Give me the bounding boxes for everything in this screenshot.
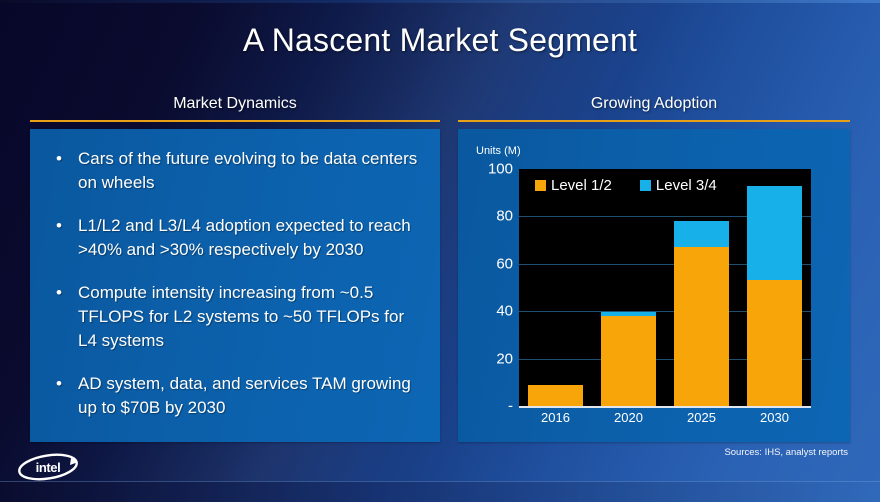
bullet-item: •AD system, data, and services TAM growi…: [44, 372, 426, 420]
bottom-band: [0, 481, 880, 502]
bullet-item: •Compute intensity increasing from ~0.5 …: [44, 281, 426, 353]
x-axis-tick-label: 2030: [760, 410, 789, 425]
chart-bar-segment: [601, 316, 655, 406]
chart-bar-segment: [601, 312, 655, 316]
bullet-item: •L1/L2 and L3/L4 adoption expected to re…: [44, 214, 426, 262]
section-header-market-dynamics: Market Dynamics: [30, 95, 440, 113]
chart-bar: [528, 385, 582, 406]
chart-plot-area: Level 1/2Level 3/4: [519, 169, 811, 406]
x-axis-tick-label: 2016: [541, 410, 570, 425]
page-title: A Nascent Market Segment: [0, 22, 880, 59]
legend-label: Level 3/4: [656, 177, 717, 194]
chart-bar-segment: [528, 385, 582, 406]
chart-legend: Level 1/2Level 3/4: [535, 177, 717, 194]
section-header-growing-adoption: Growing Adoption: [458, 95, 850, 113]
slide-canvas: A Nascent Market Segment Market Dynamics…: [0, 0, 880, 502]
y-axis-tick-label: 20: [462, 350, 513, 367]
chart-bar-segment: [747, 186, 801, 281]
bullet-item: •Cars of the future evolving to be data …: [44, 147, 426, 195]
bullet-text: Compute intensity increasing from ~0.5 T…: [78, 283, 404, 350]
chart-bar: [674, 221, 728, 406]
growing-adoption-panel: Units (M) Level 1/2Level 3/4 10080604020…: [458, 129, 850, 442]
x-axis-line: [519, 406, 811, 408]
bullet-list: •Cars of the future evolving to be data …: [30, 129, 440, 420]
y-axis-tick-label: -: [462, 398, 513, 415]
svg-text:intel: intel: [36, 460, 61, 475]
section-rule-left: [30, 120, 440, 122]
bullet-glyph-icon: •: [56, 372, 62, 396]
bullet-text: Cars of the future evolving to be data c…: [78, 149, 417, 192]
chart-legend-item: Level 3/4: [640, 177, 717, 194]
chart-bar: [601, 312, 655, 406]
chart-bar-segment: [674, 247, 728, 406]
legend-label: Level 1/2: [551, 177, 612, 194]
y-axis-tick-label: 60: [462, 255, 513, 272]
section-rule-right: [458, 120, 850, 122]
legend-swatch-icon: [535, 180, 546, 191]
bullet-glyph-icon: •: [56, 147, 62, 171]
bullet-text: L1/L2 and L3/L4 adoption expected to rea…: [78, 216, 411, 259]
chart-bar: [747, 186, 801, 406]
chart-bar-segment: [747, 280, 801, 406]
y-axis-title: Units (M): [476, 145, 521, 157]
bullet-glyph-icon: •: [56, 214, 62, 238]
x-axis-tick-label: 2020: [614, 410, 643, 425]
chart-bar-segment: [674, 221, 728, 247]
adoption-bar-chart: Units (M) Level 1/2Level 3/4 10080604020…: [458, 129, 850, 442]
y-axis-tick-label: 100: [462, 161, 513, 178]
y-axis-tick-label: 40: [462, 303, 513, 320]
sources-note: Sources: IHS, analyst reports: [724, 447, 848, 458]
market-dynamics-panel: •Cars of the future evolving to be data …: [30, 129, 440, 442]
bullet-text: AD system, data, and services TAM growin…: [78, 374, 411, 417]
y-axis-tick-label: 80: [462, 208, 513, 225]
chart-legend-item: Level 1/2: [535, 177, 612, 194]
top-accent-line: [0, 0, 880, 3]
intel-logo: intel: [14, 452, 82, 482]
bullet-glyph-icon: •: [56, 281, 62, 305]
legend-swatch-icon: [640, 180, 651, 191]
x-axis-tick-label: 2025: [687, 410, 716, 425]
